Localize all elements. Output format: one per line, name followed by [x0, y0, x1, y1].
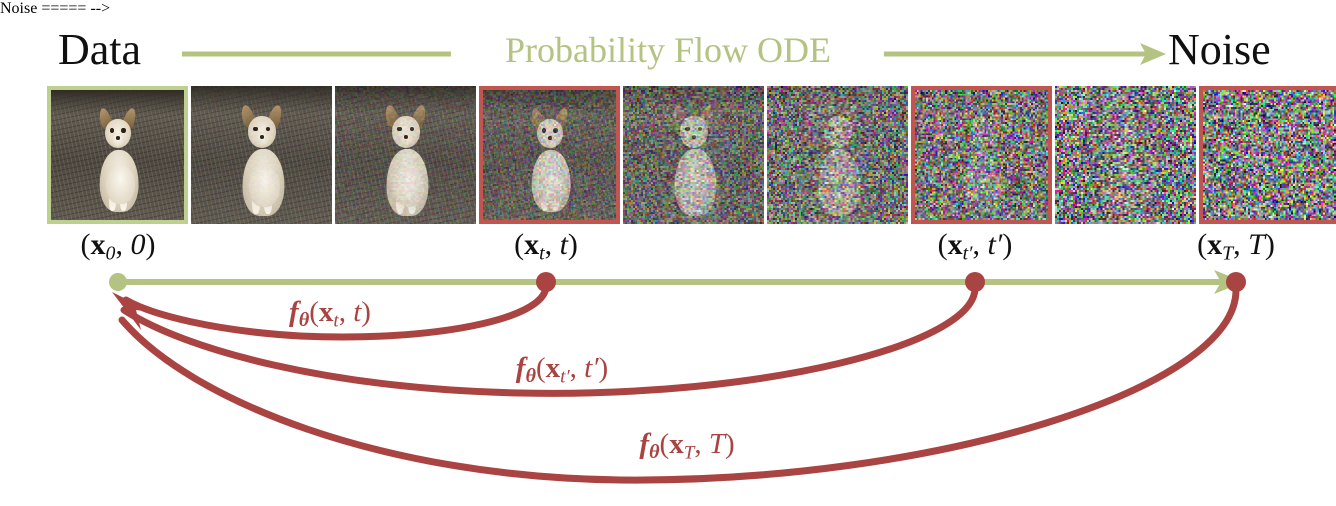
label-xt: (xt, t) [514, 228, 578, 266]
dog-chest [1113, 166, 1144, 207]
dog-nose [404, 135, 409, 139]
frame-image [1203, 90, 1336, 220]
dog-subject [623, 86, 764, 224]
frame-image [191, 86, 332, 224]
frame-5 [623, 86, 764, 224]
frame-x0 [47, 86, 188, 224]
dog-nose [1124, 135, 1129, 139]
dog-eye-right [553, 128, 557, 132]
dog-subject [1203, 90, 1336, 220]
frame-image [51, 90, 184, 220]
frame-xT [1199, 86, 1336, 224]
dog-subject [483, 90, 616, 220]
dog-nose [692, 135, 697, 139]
frame-image [767, 86, 908, 224]
dog-eye-right [1273, 128, 1277, 132]
frame-image [1055, 86, 1196, 224]
map-xtp-to-x0-label: fθ(xt′, t′) [516, 352, 608, 388]
figure-canvas: Noise ===== --> Data Probability Flow OD… [0, 0, 1336, 506]
dog-eye-left [974, 128, 978, 132]
map-xT-to-x0-label: fθ(xT, T) [639, 428, 734, 464]
dog-subject [51, 90, 184, 220]
dog-chest [393, 166, 424, 207]
header-row: Data Probability Flow ODE Noise [0, 24, 1336, 80]
dot-xT [1226, 272, 1246, 292]
dot-xtp [965, 272, 985, 292]
dot-x0 [109, 273, 127, 291]
dog-nose [116, 136, 121, 140]
image-strip [47, 86, 1306, 224]
dog-chest [106, 165, 135, 204]
dog-eye-left [110, 128, 114, 132]
dog-subject [915, 90, 1048, 220]
dog-nose [980, 136, 985, 140]
dog-nose [548, 136, 553, 140]
dog-eye-right [985, 128, 989, 132]
frame-3 [335, 86, 476, 224]
frame-2 [191, 86, 332, 224]
mapping-arrowhead [112, 292, 152, 330]
frame-image [335, 86, 476, 224]
label-x0: (x0, 0) [81, 228, 156, 266]
dog-nose [836, 135, 841, 139]
dog-subject [191, 86, 332, 224]
frame-xt [479, 86, 620, 224]
map-xt-to-x0-label: fθ(xt, t) [289, 296, 371, 332]
dog-subject [1055, 86, 1196, 224]
frame-image [623, 86, 764, 224]
noise-label: Noise [1168, 24, 1271, 76]
label-xtp: (xt′, t′) [938, 228, 1013, 266]
dog-chest [970, 165, 999, 204]
dog-eye-left [542, 128, 546, 132]
probability-flow-ode-label: Probability Flow ODE [458, 26, 878, 74]
data-label: Data [58, 24, 141, 76]
dog-eye-right [121, 128, 125, 132]
dog-nose [260, 135, 265, 139]
frame-image [483, 90, 616, 220]
dog-eye-left [1262, 128, 1266, 132]
dog-chest [538, 165, 567, 204]
frame-6 [767, 86, 908, 224]
dog-chest [681, 166, 712, 207]
dot-xt [536, 272, 556, 292]
frame-8 [1055, 86, 1196, 224]
dog-subject [767, 86, 908, 224]
frame-image [915, 90, 1048, 220]
timeline-axis [118, 270, 1244, 294]
dog-chest [249, 166, 280, 207]
label-xT: (xT, T) [1197, 228, 1275, 266]
dog-chest [825, 166, 856, 207]
frame-xtp [911, 86, 1052, 224]
timeline-dots [109, 272, 1246, 292]
dog-nose [1268, 136, 1273, 140]
dog-subject [335, 86, 476, 224]
dog-chest [1258, 165, 1287, 204]
